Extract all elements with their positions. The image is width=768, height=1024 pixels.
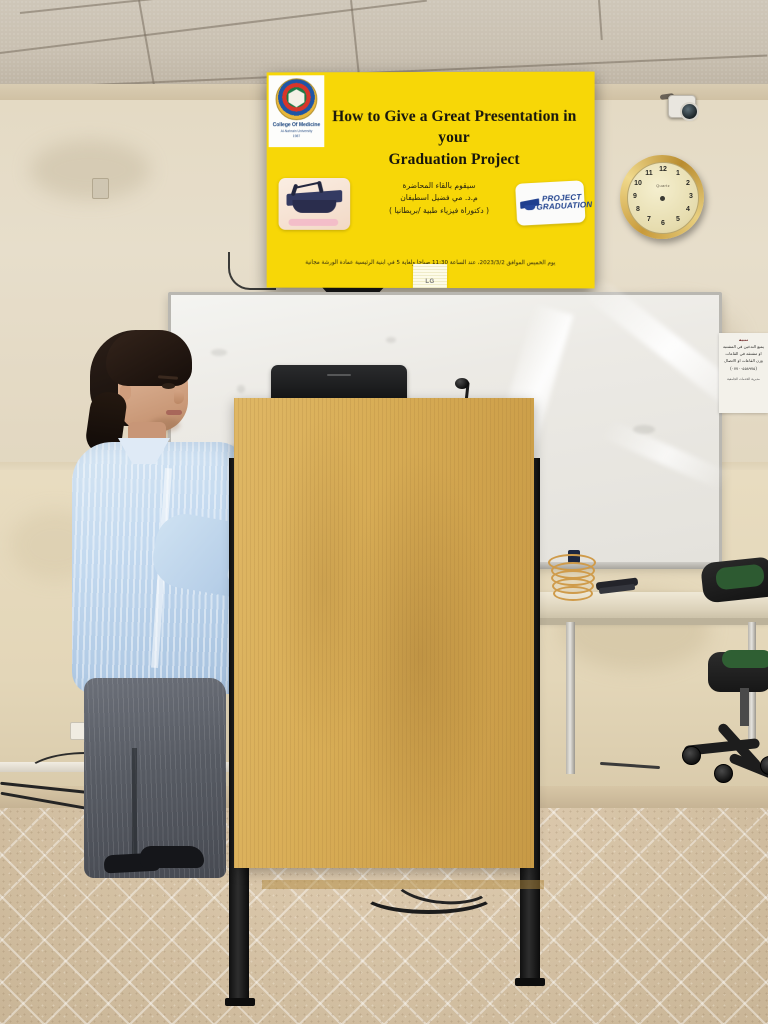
graduation-cap-icon bbox=[520, 197, 540, 211]
chair-caster bbox=[682, 746, 701, 765]
trouser-seam bbox=[132, 748, 137, 868]
arabic-line-2: م.د. مي فضيل اسطيفان bbox=[376, 192, 502, 204]
figure-arm-icon bbox=[296, 182, 320, 189]
clock-numeral: 4 bbox=[683, 206, 693, 214]
lectern-foot bbox=[225, 998, 255, 1006]
crest-line-2: Al-Nahrain University bbox=[281, 129, 313, 133]
whiteboard-smudge bbox=[633, 425, 655, 434]
cord-loop bbox=[553, 586, 593, 601]
arabic-line-1: سيقوم بالقاء المحاضرة bbox=[376, 180, 502, 192]
wall-plate bbox=[92, 178, 109, 199]
cap-crown-icon bbox=[292, 200, 336, 213]
scene-root: Quartz 12 1 2 3 4 5 6 7 8 9 10 11 Colleg… bbox=[0, 0, 768, 1024]
notice-heading: تنبيه bbox=[722, 337, 765, 342]
clock-numeral: 11 bbox=[644, 170, 654, 178]
wall-blemish bbox=[30, 140, 150, 200]
chair-caster bbox=[714, 764, 733, 783]
lectern-lower-edge bbox=[262, 880, 544, 889]
lectern-front-panel bbox=[234, 398, 534, 868]
stapler bbox=[596, 578, 638, 595]
security-camera bbox=[660, 92, 696, 118]
ribbon-icon bbox=[288, 219, 338, 226]
project-graduation-badge: PROJECT GRADUATION bbox=[515, 180, 585, 226]
camera-lens-icon bbox=[680, 102, 699, 121]
clock-numeral: 3 bbox=[686, 193, 696, 201]
clock-numeral: 6 bbox=[658, 220, 668, 228]
slide-title-line-1: How to Give a Great Presentation in your bbox=[324, 106, 584, 149]
clock-numeral: 9 bbox=[630, 193, 640, 201]
crest-icon bbox=[276, 78, 318, 120]
clock-center-pin bbox=[660, 196, 665, 201]
whiteboard-smudge bbox=[386, 337, 396, 343]
notice-phone: (٠٧٧٠٠٥٥٨٩٧٥) bbox=[722, 366, 765, 373]
badge-text: PROJECT GRADUATION bbox=[542, 193, 593, 212]
crest-line-3: 1987 bbox=[293, 134, 300, 138]
slide-title: How to Give a Great Presentation in your… bbox=[324, 106, 584, 170]
clock-face: Quartz 12 1 2 3 4 5 6 7 8 9 10 11 bbox=[627, 162, 699, 234]
wall-mounted-tv[interactable]: College Of Medicine Al-Nahrain Universit… bbox=[267, 72, 595, 289]
arabic-line-3: ( دكتوراة فيزياء طبية /بريطانيا ) bbox=[376, 205, 502, 217]
clock-numeral: 8 bbox=[633, 206, 643, 214]
chair-gas-lift bbox=[740, 688, 749, 726]
lectern-foot bbox=[515, 978, 545, 986]
coiled-extension-cord bbox=[548, 548, 596, 600]
laptop-hinge-strip bbox=[327, 374, 351, 376]
lips bbox=[166, 410, 182, 415]
crest-line-1: College Of Medicine bbox=[273, 122, 320, 128]
wall-notice: تنبيه يمنع التدخين في المشتبة او مشتقة ف… bbox=[719, 333, 768, 413]
badge-line-2: GRADUATION bbox=[536, 201, 592, 212]
table-leg bbox=[566, 622, 575, 774]
graduation-cap-illustration bbox=[279, 178, 351, 230]
camera-body bbox=[668, 95, 696, 118]
hair-front bbox=[106, 330, 192, 386]
clock-numeral: 10 bbox=[633, 180, 643, 188]
wall-clock: Quartz 12 1 2 3 4 5 6 7 8 9 10 11 bbox=[620, 155, 704, 239]
slide-arabic-block: سيقوم بالقاء المحاضرة م.د. مي فضيل اسطيف… bbox=[376, 180, 502, 217]
clock-numeral: 2 bbox=[683, 180, 693, 188]
notice-footer: مديرية الخدمات الجامعية bbox=[722, 377, 765, 381]
chair-seat-cushion bbox=[722, 650, 768, 668]
presentation-slide: College Of Medicine Al-Nahrain Universit… bbox=[267, 72, 595, 289]
notice-body: يمنع التدخين في المشتبة او مشتقة في القا… bbox=[722, 344, 765, 364]
clock-numeral: 1 bbox=[673, 170, 683, 178]
eye bbox=[162, 383, 175, 389]
wooden-lectern bbox=[215, 388, 555, 978]
clock-numeral: 7 bbox=[644, 216, 654, 224]
tv-brand-label: LG bbox=[425, 279, 434, 285]
clock-numeral: 5 bbox=[673, 216, 683, 224]
whiteboard-glare bbox=[603, 419, 730, 490]
office-chair bbox=[686, 560, 768, 782]
shoe bbox=[140, 846, 204, 868]
college-crest-logo: College Of Medicine Al-Nahrain Universit… bbox=[269, 75, 325, 147]
slide-title-line-2: Graduation Project bbox=[324, 149, 584, 171]
clock-numeral: 12 bbox=[658, 166, 668, 174]
